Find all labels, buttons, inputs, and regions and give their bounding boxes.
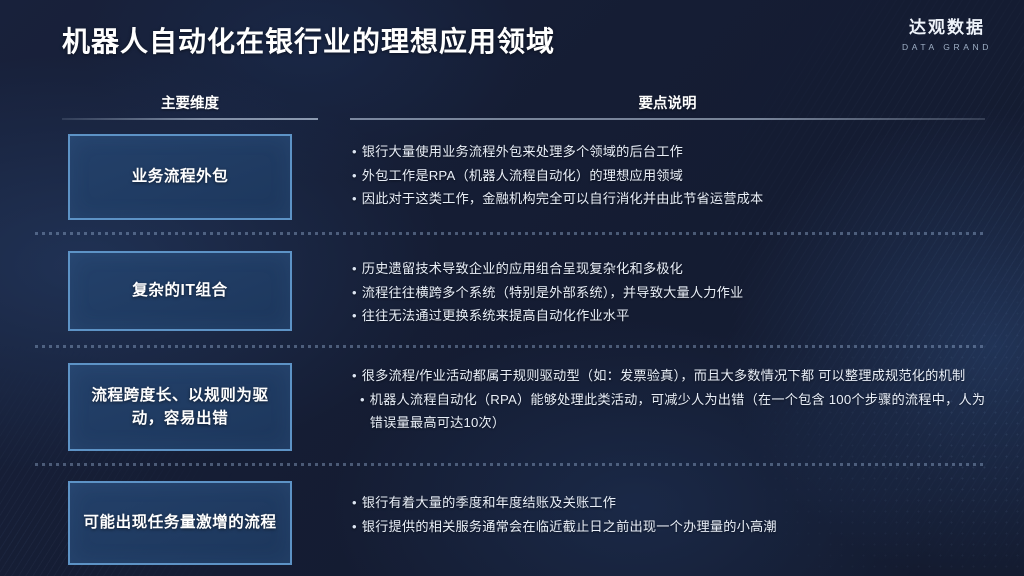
slide-canvas: 机器人自动化在银行业的理想应用领域 达观数据 DATA GRAND 主要维度 要… bbox=[0, 0, 1024, 576]
row-separator bbox=[35, 345, 985, 348]
bullet-item: •银行有着大量的季度和年度结账及关账工作 bbox=[352, 491, 986, 515]
bullet-item: •外包工作是RPA（机器人流程自动化）的理想应用领域 bbox=[352, 164, 986, 188]
bullet-text: 银行有着大量的季度和年度结账及关账工作 bbox=[362, 491, 986, 515]
bullet-text: 历史遗留技术导致企业的应用组合呈现复杂化和多极化 bbox=[362, 257, 986, 281]
bullet-item: •历史遗留技术导致企业的应用组合呈现复杂化和多极化 bbox=[352, 257, 986, 281]
bullet-text: 很多流程/作业活动都属于规则驱动型（如：发票验真），而且大多数情况下都 可以整理… bbox=[362, 364, 986, 388]
row-separator bbox=[35, 463, 985, 466]
bullet-list: •银行有着大量的季度和年度结账及关账工作•银行提供的相关服务通常会在临近截止日之… bbox=[352, 491, 986, 538]
dimension-label: 流程跨度长、以规则为驱动，容易出错 bbox=[70, 384, 290, 431]
header-rule-right bbox=[350, 118, 985, 120]
bullet-marker-icon: • bbox=[352, 364, 357, 387]
bullet-text: 银行大量使用业务流程外包来处理多个领域的后台工作 bbox=[362, 140, 986, 164]
bullet-marker-icon: • bbox=[352, 164, 357, 187]
dimension-label: 业务流程外包 bbox=[124, 165, 237, 188]
bullet-item: •银行提供的相关服务通常会在临近截止日之前出现一个办理量的小高潮 bbox=[352, 515, 986, 539]
dimension-box[interactable]: 可能出现任务量激增的流程 bbox=[68, 481, 292, 565]
bullet-text: 因此对于这类工作，金融机构完全可以自行消化并由此节省运营成本 bbox=[362, 187, 986, 211]
bullet-marker-icon: • bbox=[352, 491, 357, 514]
bullet-item: •银行大量使用业务流程外包来处理多个领域的后台工作 bbox=[352, 140, 986, 164]
bullet-text: 往往无法通过更换系统来提高自动化作业水平 bbox=[362, 304, 986, 328]
header-rule-left bbox=[62, 118, 318, 120]
bullet-marker-icon: • bbox=[352, 515, 357, 538]
bullet-marker-icon: • bbox=[352, 257, 357, 280]
bullet-item: •机器人流程自动化（RPA）能够处理此类活动，可减少人为出错（在一个包含 100… bbox=[352, 388, 986, 435]
bullet-marker-icon: • bbox=[352, 281, 357, 304]
bullet-text: 流程往往横跨多个系统（特别是外部系统），并导致大量人力作业 bbox=[362, 281, 986, 305]
brand-logo-cn: 达观数据 bbox=[902, 18, 992, 38]
bullet-text: 机器人流程自动化（RPA）能够处理此类活动，可减少人为出错（在一个包含 100个… bbox=[370, 388, 986, 435]
bullet-item: •往往无法通过更换系统来提高自动化作业水平 bbox=[352, 304, 986, 328]
bullet-item: •因此对于这类工作，金融机构完全可以自行消化并由此节省运营成本 bbox=[352, 187, 986, 211]
bullet-marker-icon: • bbox=[360, 388, 365, 411]
page-title: 机器人自动化在银行业的理想应用领域 bbox=[62, 20, 555, 60]
dimension-box[interactable]: 流程跨度长、以规则为驱动，容易出错 bbox=[68, 363, 292, 451]
bullet-marker-icon: • bbox=[352, 187, 357, 210]
brand-logo-en: DATA GRAND bbox=[902, 42, 992, 52]
column-header-dimension: 主要维度 bbox=[62, 92, 318, 113]
row-separator bbox=[35, 232, 985, 235]
bullet-item: •流程往往横跨多个系统（特别是外部系统），并导致大量人力作业 bbox=[352, 281, 986, 305]
bullet-item: •很多流程/作业活动都属于规则驱动型（如：发票验真），而且大多数情况下都 可以整… bbox=[352, 364, 986, 388]
dimension-label: 复杂的IT组合 bbox=[124, 279, 235, 302]
bullet-text: 外包工作是RPA（机器人流程自动化）的理想应用领域 bbox=[362, 164, 986, 188]
bullet-list: •很多流程/作业活动都属于规则驱动型（如：发票验真），而且大多数情况下都 可以整… bbox=[352, 364, 986, 435]
bullet-marker-icon: • bbox=[352, 140, 357, 163]
bullet-marker-icon: • bbox=[352, 304, 357, 327]
bullet-text: 银行提供的相关服务通常会在临近截止日之前出现一个办理量的小高潮 bbox=[362, 515, 986, 539]
brand-logo: 达观数据 DATA GRAND bbox=[902, 18, 992, 52]
bullet-list: •银行大量使用业务流程外包来处理多个领域的后台工作•外包工作是RPA（机器人流程… bbox=[352, 140, 986, 211]
bullet-list: •历史遗留技术导致企业的应用组合呈现复杂化和多极化•流程往往横跨多个系统（特别是… bbox=[352, 257, 986, 328]
dimension-box[interactable]: 复杂的IT组合 bbox=[68, 251, 292, 331]
dimension-label: 可能出现任务量激增的流程 bbox=[75, 511, 284, 534]
dimension-box[interactable]: 业务流程外包 bbox=[68, 134, 292, 220]
column-header-description: 要点说明 bbox=[350, 92, 985, 113]
